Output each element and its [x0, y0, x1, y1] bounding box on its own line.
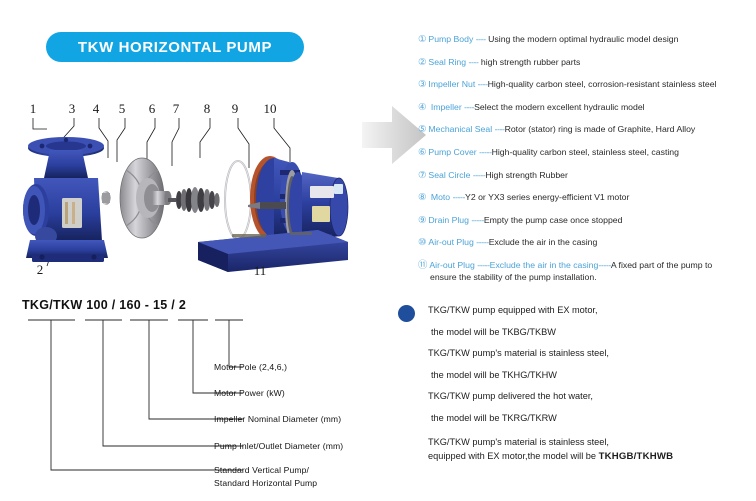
model-code-label-motor-power: Motor Power (kW): [214, 388, 285, 398]
part-number: ⑩: [418, 236, 426, 247]
part-dash: -----: [471, 215, 483, 225]
part-name: Seal Ring: [428, 57, 466, 67]
part-description: A fixed part of the pump to: [611, 260, 712, 270]
model-variants-block: TKG/TKW pump equipped with EX motor, the…: [398, 300, 754, 464]
part-name: Moto: [431, 192, 450, 202]
callout-4: 4: [93, 101, 100, 116]
part-dash: ----: [464, 102, 474, 112]
callout-9: 9: [232, 101, 239, 116]
part-number: ①: [418, 33, 426, 44]
part-name: Impeller: [431, 102, 462, 112]
part-number: ⑥: [418, 146, 426, 157]
part-name: Pump Cover: [428, 147, 476, 157]
part-dash: ----: [469, 57, 479, 67]
part-name: Impeller Nut: [428, 79, 475, 89]
part-description: Select the modern excellent hydraulic mo…: [474, 102, 644, 112]
variant-line: TKG/TKW pump delivered the hot water,: [398, 386, 754, 408]
variant-line: the model will be TKHG/TKHW: [398, 365, 754, 387]
pump-type-line2: Standard Horizontal Pump: [214, 478, 317, 488]
part-dash: -----: [477, 260, 489, 270]
product-title-banner: TKW HORIZONTAL PUMP: [46, 32, 304, 62]
part-dash: ----: [495, 124, 505, 134]
model-code-label-impeller-diameter: Impeller Nominal Diameter (mm): [214, 414, 341, 424]
part-description: High-quality carbon steel, stainless ste…: [492, 147, 679, 157]
part-row: ⑩Air-out Plug -----Exclude the air in th…: [418, 236, 752, 248]
callout-8: 8: [204, 101, 211, 116]
part-number: ⑧: [418, 191, 426, 202]
part-row: ①Pump Body ---- Using the modern optimal…: [418, 33, 752, 45]
product-title: TKW HORIZONTAL PUMP: [78, 39, 272, 56]
parts-list: ①Pump Body ---- Using the modern optimal…: [418, 33, 752, 294]
callout-3: 3: [69, 101, 76, 116]
part-description: high strength rubber parts: [481, 57, 580, 67]
part-number: ⑨: [418, 214, 426, 225]
part-row: ⑧ Moto -----Y2 or YX3 series energy-effi…: [418, 191, 752, 203]
model-code-string: TKG/TKW 100 / 160 - 15 / 2: [22, 298, 186, 312]
part-description: Y2 or YX3 series energy-efficient V1 mot…: [465, 192, 629, 202]
part-name: Drain Plug: [428, 215, 469, 225]
part-number: ⑦: [418, 169, 426, 180]
part-name: Seal Circle: [428, 170, 470, 180]
part-dash: ----: [476, 34, 486, 44]
part-description: Rotor (stator) ring is made of Graphite,…: [505, 124, 696, 134]
callout-1: 1: [30, 101, 37, 116]
variant-last-prefix: equipped with EX motor,the model will be: [428, 451, 599, 461]
part-name: Mechanical Seal: [428, 124, 492, 134]
part-description-blue: Exclude the air in the casing: [490, 260, 599, 270]
part-row: ②Seal Ring ---- high strength rubber par…: [418, 56, 752, 68]
part-dash: -----: [479, 147, 491, 157]
part-row: ③Impeller Nut ----High-quality carbon st…: [418, 78, 752, 90]
callout-11: 11: [254, 263, 267, 278]
part-row-last: ⑪Air-out Plug -----Exclude the air in th…: [418, 259, 752, 283]
part-number: ③: [418, 78, 426, 89]
part-row: ⑦Seal Circle -----High strength Rubber: [418, 169, 752, 181]
callout-5: 5: [119, 101, 126, 116]
model-code-breakdown: TKG/TKW 100 / 160 - 15 / 2: [0, 296, 400, 496]
variant-line: the model will be TKRG/TKRW: [398, 408, 754, 430]
part-description: Using the modern optimal hydraulic model…: [488, 34, 678, 44]
part-description: High strength Rubber: [485, 170, 568, 180]
model-code-label-pump-type: Standard Vertical Pump/ Standard Horizon…: [214, 465, 317, 488]
part-number: ⑪: [418, 259, 427, 270]
part-dash: -----: [453, 192, 465, 202]
part-dash: -----: [476, 237, 488, 247]
part-dash-secondary: -----: [598, 260, 610, 270]
part-name: Air-out Plug: [428, 237, 473, 247]
variant-line: TKG/TKW pump's material is stainless ste…: [398, 343, 754, 365]
exploded-pump-diagram: 1 3 4 5 6 7 8 9 10 2 11: [0, 96, 400, 291]
part-dash: -----: [473, 170, 485, 180]
callout-7: 7: [173, 101, 180, 116]
callout-10: 10: [264, 101, 277, 116]
bullet-circle-icon: [398, 305, 415, 322]
part-description: Exclude the air in the casing: [489, 237, 598, 247]
part-row: ④ Impeller ----Select the modern excelle…: [418, 101, 752, 113]
model-code-leader-lines: [0, 296, 400, 496]
spec-sheet-page: TKW HORIZONTAL PUMP: [0, 0, 756, 500]
part-description: High-quality carbon steel, corrosion-res…: [488, 79, 717, 89]
variant-last-model: TKHGB/TKHWB: [599, 451, 674, 462]
model-code-label-inlet-outlet-diameter: Pump Inlet/Outlet Diameter (mm): [214, 441, 343, 451]
part-name: Air-out Plug: [429, 260, 474, 270]
part-description: Empty the pump case once stopped: [484, 215, 623, 225]
variant-line: TKG/TKW pump's material is stainless ste…: [398, 435, 754, 449]
variant-line: TKG/TKW pump equipped with EX motor,: [398, 300, 754, 322]
callout-6: 6: [149, 101, 156, 116]
part-description-line2: ensure the stability of the pump install…: [418, 272, 752, 283]
variant-line-last: equipped with EX motor,the model will be…: [398, 449, 754, 464]
pump-type-line1: Standard Vertical Pump/: [214, 465, 309, 475]
part-dash: ----: [478, 79, 488, 89]
part-name: Pump Body: [428, 34, 473, 44]
callout-2: 2: [37, 262, 44, 277]
part-number: ⑤: [418, 123, 426, 134]
part-number: ④: [418, 101, 426, 112]
variant-line: the model will be TKBG/TKBW: [398, 322, 754, 344]
part-row: ⑤Mechanical Seal ----Rotor (stator) ring…: [418, 123, 752, 135]
part-row: ⑨Drain Plug -----Empty the pump case onc…: [418, 214, 752, 226]
model-code-label-motor-pole: Motor Pole (2,4,6,): [214, 362, 287, 372]
part-number: ②: [418, 56, 426, 67]
part-row: ⑥Pump Cover -----High-quality carbon ste…: [418, 146, 752, 158]
